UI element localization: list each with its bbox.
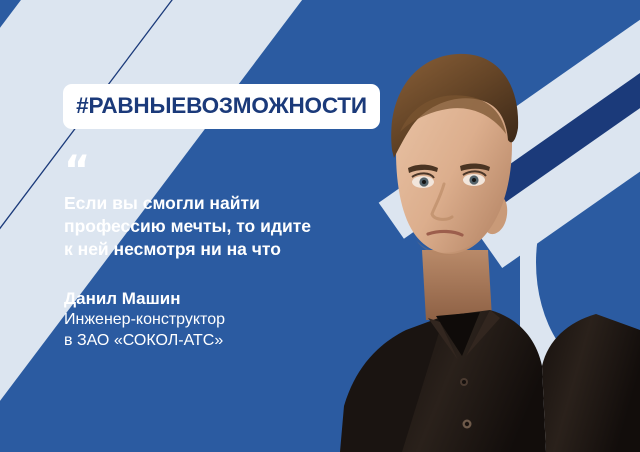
person-role-line: в ЗАО «СОКОЛ-АТС»	[64, 331, 364, 351]
person-photo	[340, 0, 640, 452]
hashtag-text: #РАВНЫЕВОЗМОЖНОСТИ	[76, 95, 367, 118]
quote-mark-icon: “	[64, 160, 364, 186]
quote-text: Если вы смогли найти профессию мечты, то…	[64, 192, 364, 261]
hashtag-badge: #РАВНЫЕВОЗМОЖНОСТИ	[63, 84, 380, 129]
person-role: Инженер-конструктор в ЗАО «СОКОЛ-АТС»	[64, 310, 364, 351]
social-media-poster: #РАВНЫЕВОЗМОЖНОСТИ “ Если вы смогли найт…	[0, 0, 640, 452]
quote-line: профессию мечты, то идите	[64, 215, 364, 238]
person-name: Данил Машин	[64, 288, 364, 310]
quote-block: “ Если вы смогли найти профессию мечты, …	[64, 160, 364, 261]
attribution-block: Данил Машин Инженер-конструктор в ЗАО «С…	[64, 288, 364, 351]
person-role-line: Инженер-конструктор	[64, 310, 364, 330]
quote-line: Если вы смогли найти	[64, 192, 364, 215]
quote-line: к ней несмотря ни на что	[64, 238, 364, 261]
